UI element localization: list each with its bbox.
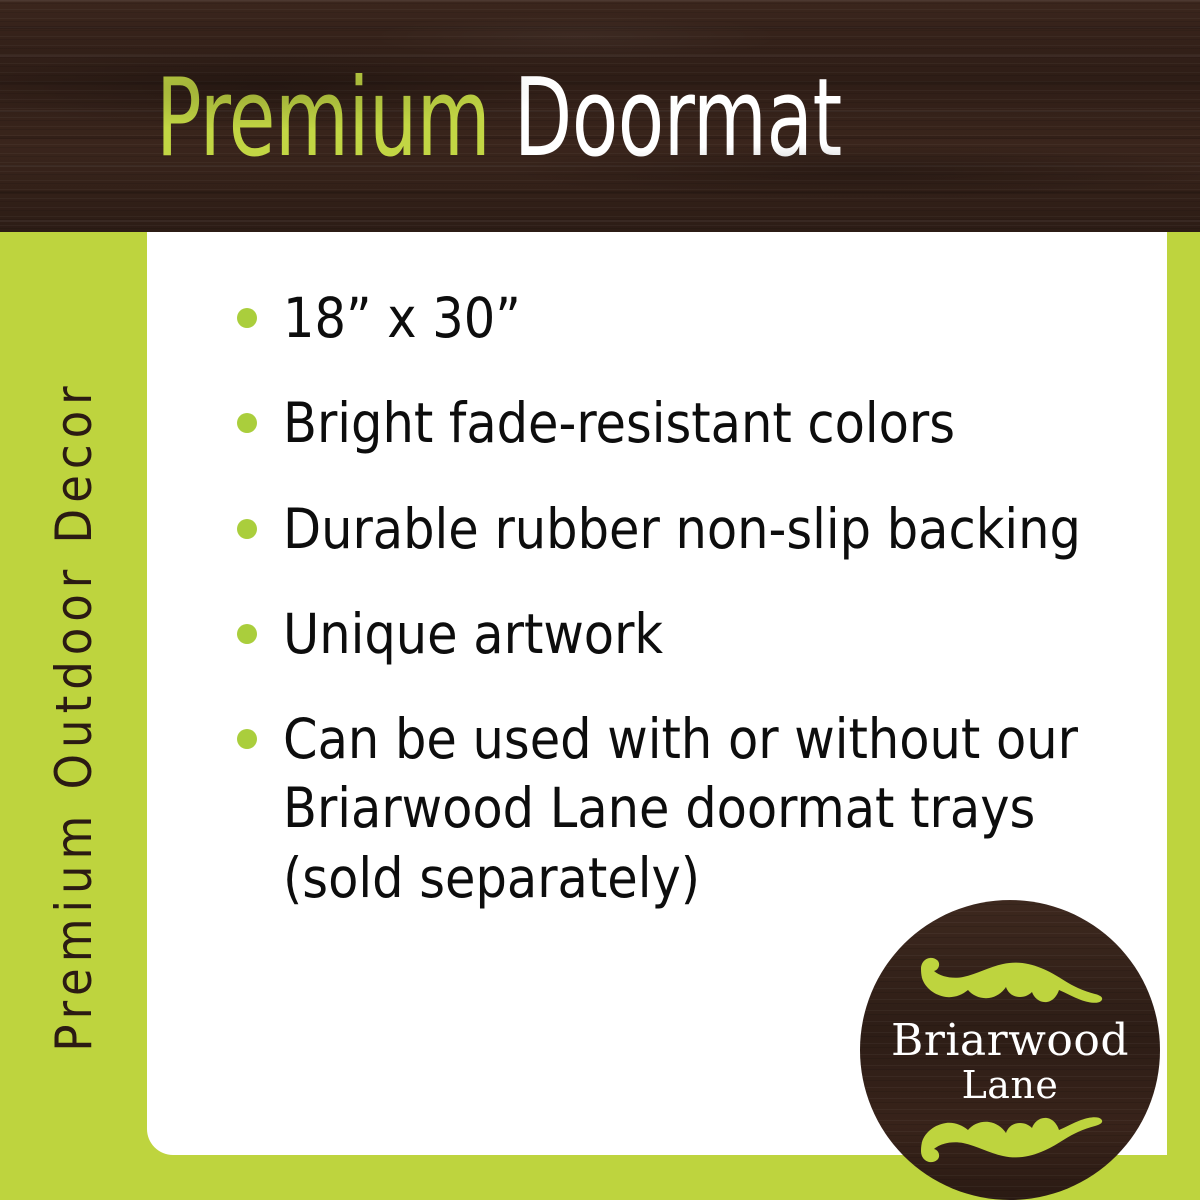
list-item-label: Bright fade-resistant colors (283, 389, 1125, 458)
list-item-label: Unique artwork (283, 600, 1125, 669)
briarwood-lane-logo: Briarwood Lane (860, 900, 1160, 1200)
page-title: Premium Doormat (156, 44, 936, 194)
bullet-dot-icon (237, 519, 257, 539)
logo-wordmark: Briarwood Lane (860, 1018, 1160, 1106)
list-item: Can be used with or without our Briarwoo… (225, 705, 1125, 913)
logo-sub: Lane (860, 1064, 1160, 1107)
sidebar-label: Premium Outdoor Decor (45, 380, 103, 1051)
sidebar-vertical-banner: Premium Outdoor Decor (0, 232, 147, 1200)
list-item: Durable rubber non-slip backing (225, 495, 1125, 564)
bullet-dot-icon (237, 624, 257, 644)
product-feature-infographic: Premium Doormat Premium Outdoor Decor 18… (0, 0, 1200, 1200)
list-item: Bright fade-resistant colors (225, 389, 1125, 458)
list-item-label: Can be used with or without our Briarwoo… (283, 705, 1125, 913)
bullet-dot-icon (237, 308, 257, 328)
list-item: 18” x 30” (225, 284, 1125, 353)
bullet-dot-icon (237, 413, 257, 433)
page-title-main: Doormat (490, 56, 842, 181)
list-item-label: 18” x 30” (283, 284, 1125, 353)
list-item: Unique artwork (225, 600, 1125, 669)
page-title-accent: Premium (156, 56, 490, 181)
oak-leaf-icon (915, 952, 1105, 1014)
oak-leaf-icon (915, 1106, 1105, 1168)
list-item-label: Durable rubber non-slip backing (283, 495, 1125, 564)
header-wood-banner: Premium Doormat (0, 0, 1200, 232)
feature-list: 18” x 30” Bright fade-resistant colors D… (225, 284, 1125, 913)
logo-name: Briarwood (860, 1018, 1160, 1064)
bullet-dot-icon (237, 729, 257, 749)
